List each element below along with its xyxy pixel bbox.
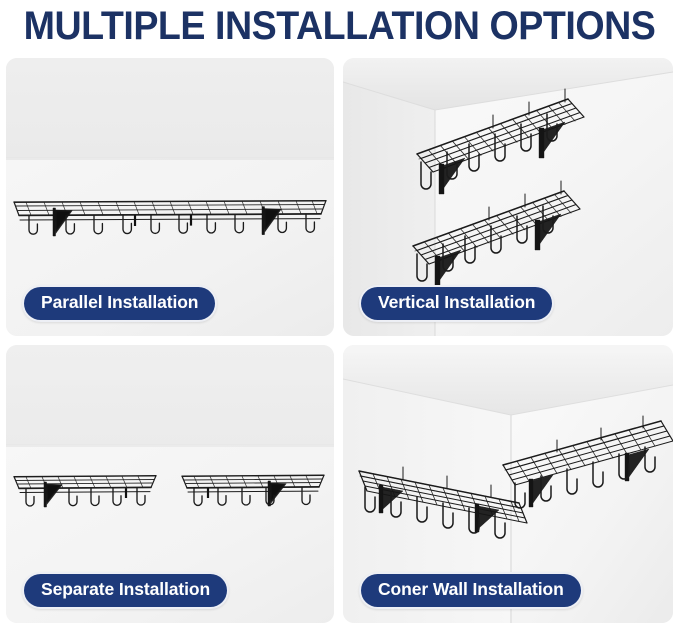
page-title: MULTIPLE INSTALLATION OPTIONS <box>20 0 658 52</box>
badge-parallel-installation[interactable]: Parallel Installation <box>22 285 217 322</box>
badge-vertical-installation[interactable]: Vertical Installation <box>359 285 554 322</box>
panel-vertical-installation[interactable]: Vertical Installation <box>343 58 673 336</box>
panel-corner-wall-installation[interactable]: Coner Wall Installation <box>343 345 673 623</box>
badge-separate-installation[interactable]: Separate Installation <box>22 572 229 609</box>
badge-corner-wall-installation[interactable]: Coner Wall Installation <box>359 572 583 609</box>
installation-options-grid: Parallel Installation <box>0 53 679 628</box>
panel-separate-installation[interactable]: Separate Installation <box>6 345 334 623</box>
panel-parallel-installation[interactable]: Parallel Installation <box>6 58 334 336</box>
